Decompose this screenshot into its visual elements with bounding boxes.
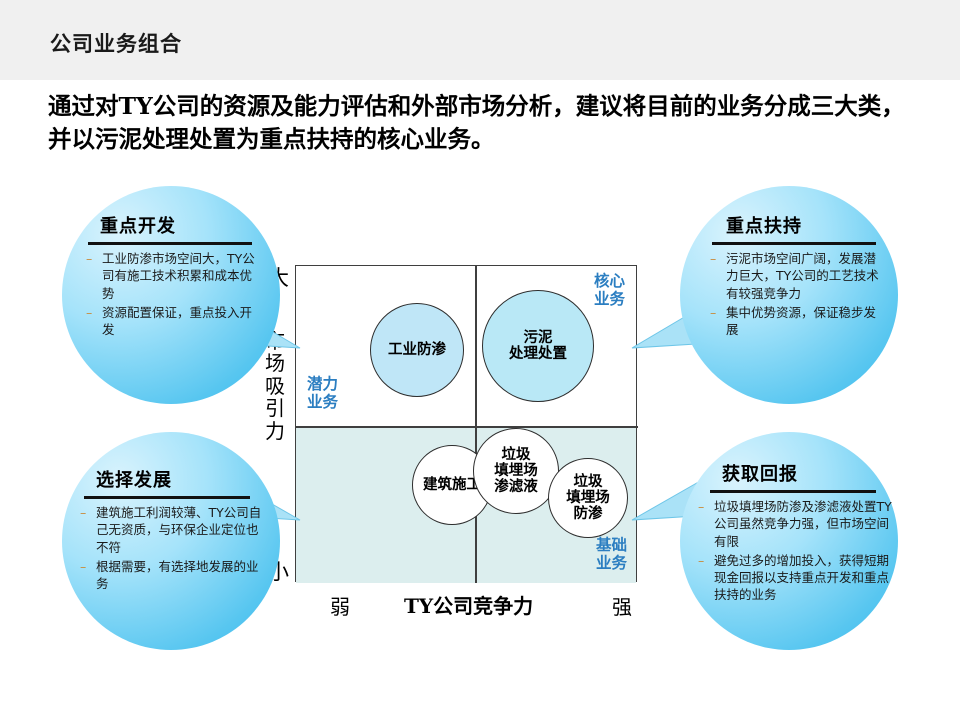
bubble-sludge-treatment-line1: 污泥	[509, 330, 567, 346]
quadrant-label-core: 核心 业务	[594, 272, 625, 309]
callout-bottom-right-title: 获取回报	[722, 460, 798, 486]
list-item: 垃圾填埋场防渗及渗滤液处置TY公司虽然竞争力强，但市场空间有限	[696, 498, 892, 550]
bubble-landfill-seepage-line3: 防渗	[566, 506, 610, 522]
bubble-landfill-leachate-line3: 渗滤液	[494, 479, 538, 495]
bubble-landfill-seepage-line1: 垃圾	[566, 474, 610, 490]
bubble-landfill-leachate-line2: 填埋场	[494, 463, 538, 479]
callout-top-right-title: 重点扶持	[726, 212, 802, 238]
callout-top-right-list: 污泥市场空间广阔，发展潜力巨大，TY公司的工艺技术有较强竞争力 集中优势资源，保…	[708, 250, 888, 340]
y-axis-title-char-5: 力	[262, 420, 288, 442]
slide-canvas: 公司业务组合 通过对TY公司的资源及能力评估和外部市场分析，建议将目前的业务分成…	[0, 0, 960, 720]
callout-bottom-right-list: 垃圾填埋场防渗及渗滤液处置TY公司虽然竞争力强，但市场空间有限 避免过多的增加投…	[696, 498, 892, 606]
bubble-sludge-treatment[interactable]: 污泥 处理处置	[482, 290, 594, 402]
x-axis-tick-low: 弱	[330, 591, 350, 620]
bubble-industrial-seepage[interactable]: 工业防渗	[370, 303, 464, 397]
matrix-vertical-divider	[475, 266, 477, 583]
quadrant-label-base-line1: 基础	[596, 536, 627, 554]
bubble-industrial-seepage-label: 工业防渗	[388, 342, 446, 358]
matrix-horizontal-divider	[296, 426, 638, 428]
y-axis-title-char-4: 引	[262, 397, 288, 419]
bubble-construction-label: 建筑施工	[423, 477, 481, 493]
list-item: 污泥市场空间广阔，发展潜力巨大，TY公司的工艺技术有较强竞争力	[708, 250, 888, 302]
callout-bottom-left[interactable]: 选择发展 建筑施工利润较薄、TY公司自己无资质，与环保企业定位也不符 根据需要，…	[62, 432, 280, 650]
callout-bottom-right-rule	[710, 490, 876, 493]
quadrant-label-base: 基础 业务	[596, 536, 627, 573]
x-axis-title: TY公司竞争力	[404, 590, 533, 619]
y-axis-title-char-3: 吸	[262, 375, 288, 397]
callout-bottom-left-rule	[84, 496, 250, 499]
list-item: 根据需要，有选择地发展的业务	[78, 558, 266, 593]
list-item: 避免过多的增加投入，获得短期现金回报以支持重点开发和重点扶持的业务	[696, 552, 892, 604]
lead-paragraph: 通过对TY公司的资源及能力评估和外部市场分析，建议将目前的业务分成三大类，并以污…	[48, 90, 916, 157]
bubble-landfill-leachate-line1: 垃圾	[494, 447, 538, 463]
callout-top-left[interactable]: 重点开发 工业防渗市场空间大，TY公司有施工技术积累和成本优势 资源配置保证，重…	[62, 186, 280, 404]
bubble-landfill-seepage[interactable]: 垃圾 填埋场 防渗	[548, 458, 628, 538]
quadrant-label-core-line1: 核心	[594, 272, 625, 290]
list-item: 集中优势资源，保证稳步发展	[708, 304, 888, 339]
bubble-sludge-treatment-line2: 处理处置	[509, 346, 567, 362]
callout-top-left-list: 工业防渗市场空间大，TY公司有施工技术积累和成本优势 资源配置保证，重点投入开发	[84, 250, 264, 340]
callout-top-right[interactable]: 重点扶持 污泥市场空间广阔，发展潜力巨大，TY公司的工艺技术有较强竞争力 集中优…	[680, 186, 898, 404]
callout-bottom-right[interactable]: 获取回报 垃圾填埋场防渗及渗滤液处置TY公司虽然竞争力强，但市场空间有限 避免过…	[680, 432, 898, 650]
quadrant-label-potential-line1: 潜力	[307, 375, 338, 393]
callout-top-left-rule	[88, 242, 252, 245]
bubble-landfill-seepage-line2: 填埋场	[566, 490, 610, 506]
callout-bottom-left-title: 选择发展	[96, 466, 172, 492]
bubble-landfill-leachate[interactable]: 垃圾 填埋场 渗滤液	[473, 428, 559, 514]
quadrant-label-core-line2: 业务	[594, 290, 625, 308]
quadrant-label-base-line2: 业务	[596, 554, 627, 572]
callout-bottom-left-list: 建筑施工利润较薄、TY公司自己无资质，与环保企业定位也不符 根据需要，有选择地发…	[78, 504, 266, 594]
x-axis-tick-high: 强	[612, 591, 632, 620]
page-title: 公司业务组合	[50, 28, 182, 58]
list-item: 工业防渗市场空间大，TY公司有施工技术积累和成本优势	[84, 250, 264, 302]
quadrant-label-potential: 潜力 业务	[307, 375, 338, 412]
list-item: 资源配置保证，重点投入开发	[84, 304, 264, 339]
callout-top-right-rule	[712, 242, 876, 245]
quadrant-label-potential-line2: 业务	[307, 393, 338, 411]
callout-top-left-title: 重点开发	[100, 212, 176, 238]
list-item: 建筑施工利润较薄、TY公司自己无资质，与环保企业定位也不符	[78, 504, 266, 556]
